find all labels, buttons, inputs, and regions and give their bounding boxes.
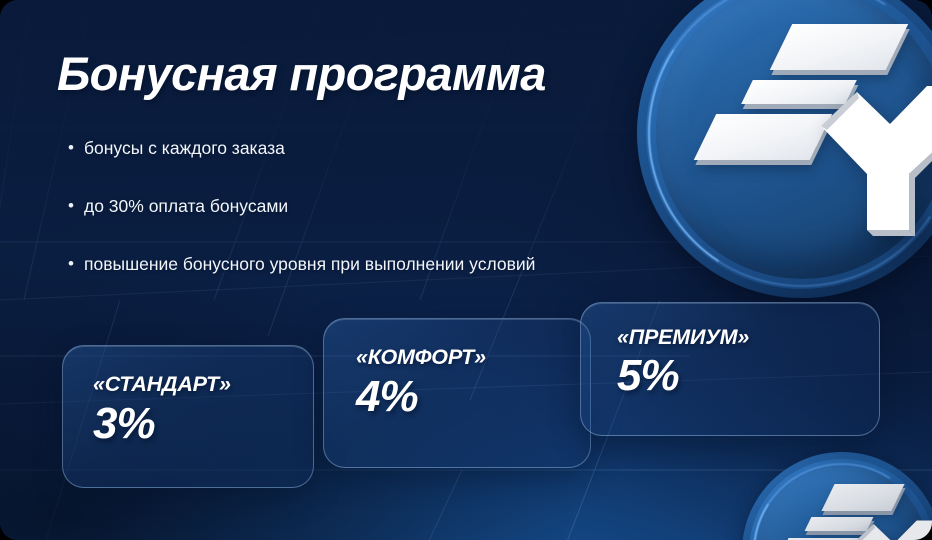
tier-percent-comfort: 4% [324,372,590,422]
bonus-program-banner: Бонусная программа • бонусы с каждого за… [0,0,932,540]
list-item-label: бонусы с каждого заказа [84,135,285,161]
tier-name-standard: «СТАНДАРТ» [63,372,313,397]
list-item: • до 30% оплата бонусами [68,193,788,219]
tier-percent-premium: 5% [581,351,879,401]
tier-card-standard[interactable]: «СТАНДАРТ» 3% [62,345,314,488]
list-item: • повышение бонусного уровня при выполне… [68,251,788,277]
list-item-label: повышение бонусного уровня при выполнени… [84,251,535,277]
bullet-dot-icon: • [68,135,84,161]
list-item: • бонусы с каждого заказа [68,135,788,161]
banner-content: Бонусная программа • бонусы с каждого за… [0,0,932,540]
tier-card-comfort[interactable]: «КОМФОРТ» 4% [323,318,591,468]
bullet-dot-icon: • [68,193,84,219]
list-item-label: до 30% оплата бонусами [84,193,288,219]
tier-percent-standard: 3% [63,399,313,449]
tier-card-premium[interactable]: «ПРЕМИУМ» 5% [580,302,880,436]
benefits-list: • бонусы с каждого заказа • до 30% оплат… [68,135,788,309]
tier-name-premium: «ПРЕМИУМ» [581,325,879,350]
page-title: Бонусная программа [57,50,546,97]
bullet-dot-icon: • [68,251,84,277]
tier-name-comfort: «КОМФОРТ» [324,345,590,370]
